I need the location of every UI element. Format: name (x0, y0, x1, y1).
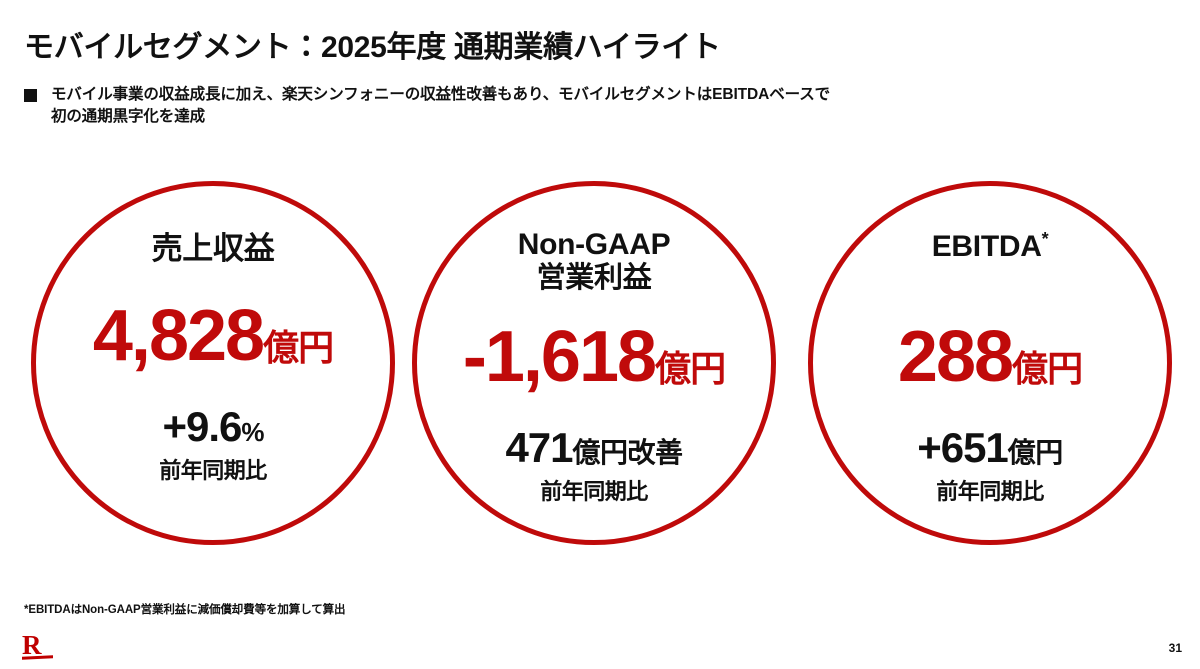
kpi-delta-unit: % (241, 417, 263, 448)
kpi-label-main: 売上収益 (152, 231, 275, 266)
kpi-delta-ebitda: +651 億円 (917, 424, 1063, 472)
kpi-value-revenue: 4,828 億円 (93, 295, 333, 377)
kpi-delta-number: +9.6 (162, 403, 241, 451)
kpi-label-main: Non-GAAP (518, 228, 671, 261)
kpi-card-non-gaap-operating-income: Non-GAAP 営業利益 -1,618 億円 471 億円改善 前年同期比 (412, 181, 776, 545)
kpi-value-unit: 億円 (263, 319, 333, 371)
kpi-value-ebitda: 288 億円 (898, 316, 1082, 398)
kpi-label-non-gaap: Non-GAAP 営業利益 (518, 228, 671, 294)
page-number: 31 (1169, 641, 1182, 655)
kpi-basis-revenue: 前年同期比 (159, 453, 267, 485)
kpi-label-ebitda: EBITDA* (932, 230, 1049, 264)
kpi-delta-number: +651 (917, 424, 1008, 472)
kpi-value-number: 4,828 (93, 295, 263, 377)
kpi-value-number: 288 (898, 316, 1012, 398)
kpi-label-main: EBITDA (932, 230, 1042, 263)
kpi-value-unit: 億円 (1012, 340, 1082, 392)
kpi-card-ebitda: EBITDA* 288 億円 +651 億円 前年同期比 (808, 181, 1172, 545)
kpi-basis-ebitda: 前年同期比 (936, 474, 1044, 506)
kpi-delta-number: 471 (505, 424, 572, 472)
kpi-label-revenue: 売上収益 (152, 232, 275, 267)
kpi-label-sub: 営業利益 (518, 262, 671, 294)
slide-footnote: *EBITDAはNon-GAAP営業利益に減価償却費等を加算して算出 (24, 601, 345, 617)
kpi-delta-unit: 億円 (1008, 431, 1063, 471)
kpi-delta-unit: 億円改善 (573, 431, 683, 471)
kpi-delta-non-gaap: 471 億円改善 (505, 424, 682, 472)
kpi-circle-group: 売上収益 4,828 億円 +9.6 % 前年同期比 Non-GAAP 営業利益… (0, 0, 1200, 669)
kpi-value-number: -1,618 (463, 316, 655, 398)
kpi-value-non-gaap: -1,618 億円 (463, 316, 725, 398)
kpi-card-revenue: 売上収益 4,828 億円 +9.6 % 前年同期比 (31, 181, 395, 545)
rakuten-logo: R (22, 635, 56, 661)
footnote-asterisk: * (1042, 229, 1049, 249)
rakuten-r-glyph: R (22, 635, 56, 655)
kpi-basis-non-gaap: 前年同期比 (540, 474, 648, 506)
kpi-value-unit: 億円 (655, 340, 725, 392)
kpi-delta-revenue: +9.6 % (162, 403, 263, 451)
